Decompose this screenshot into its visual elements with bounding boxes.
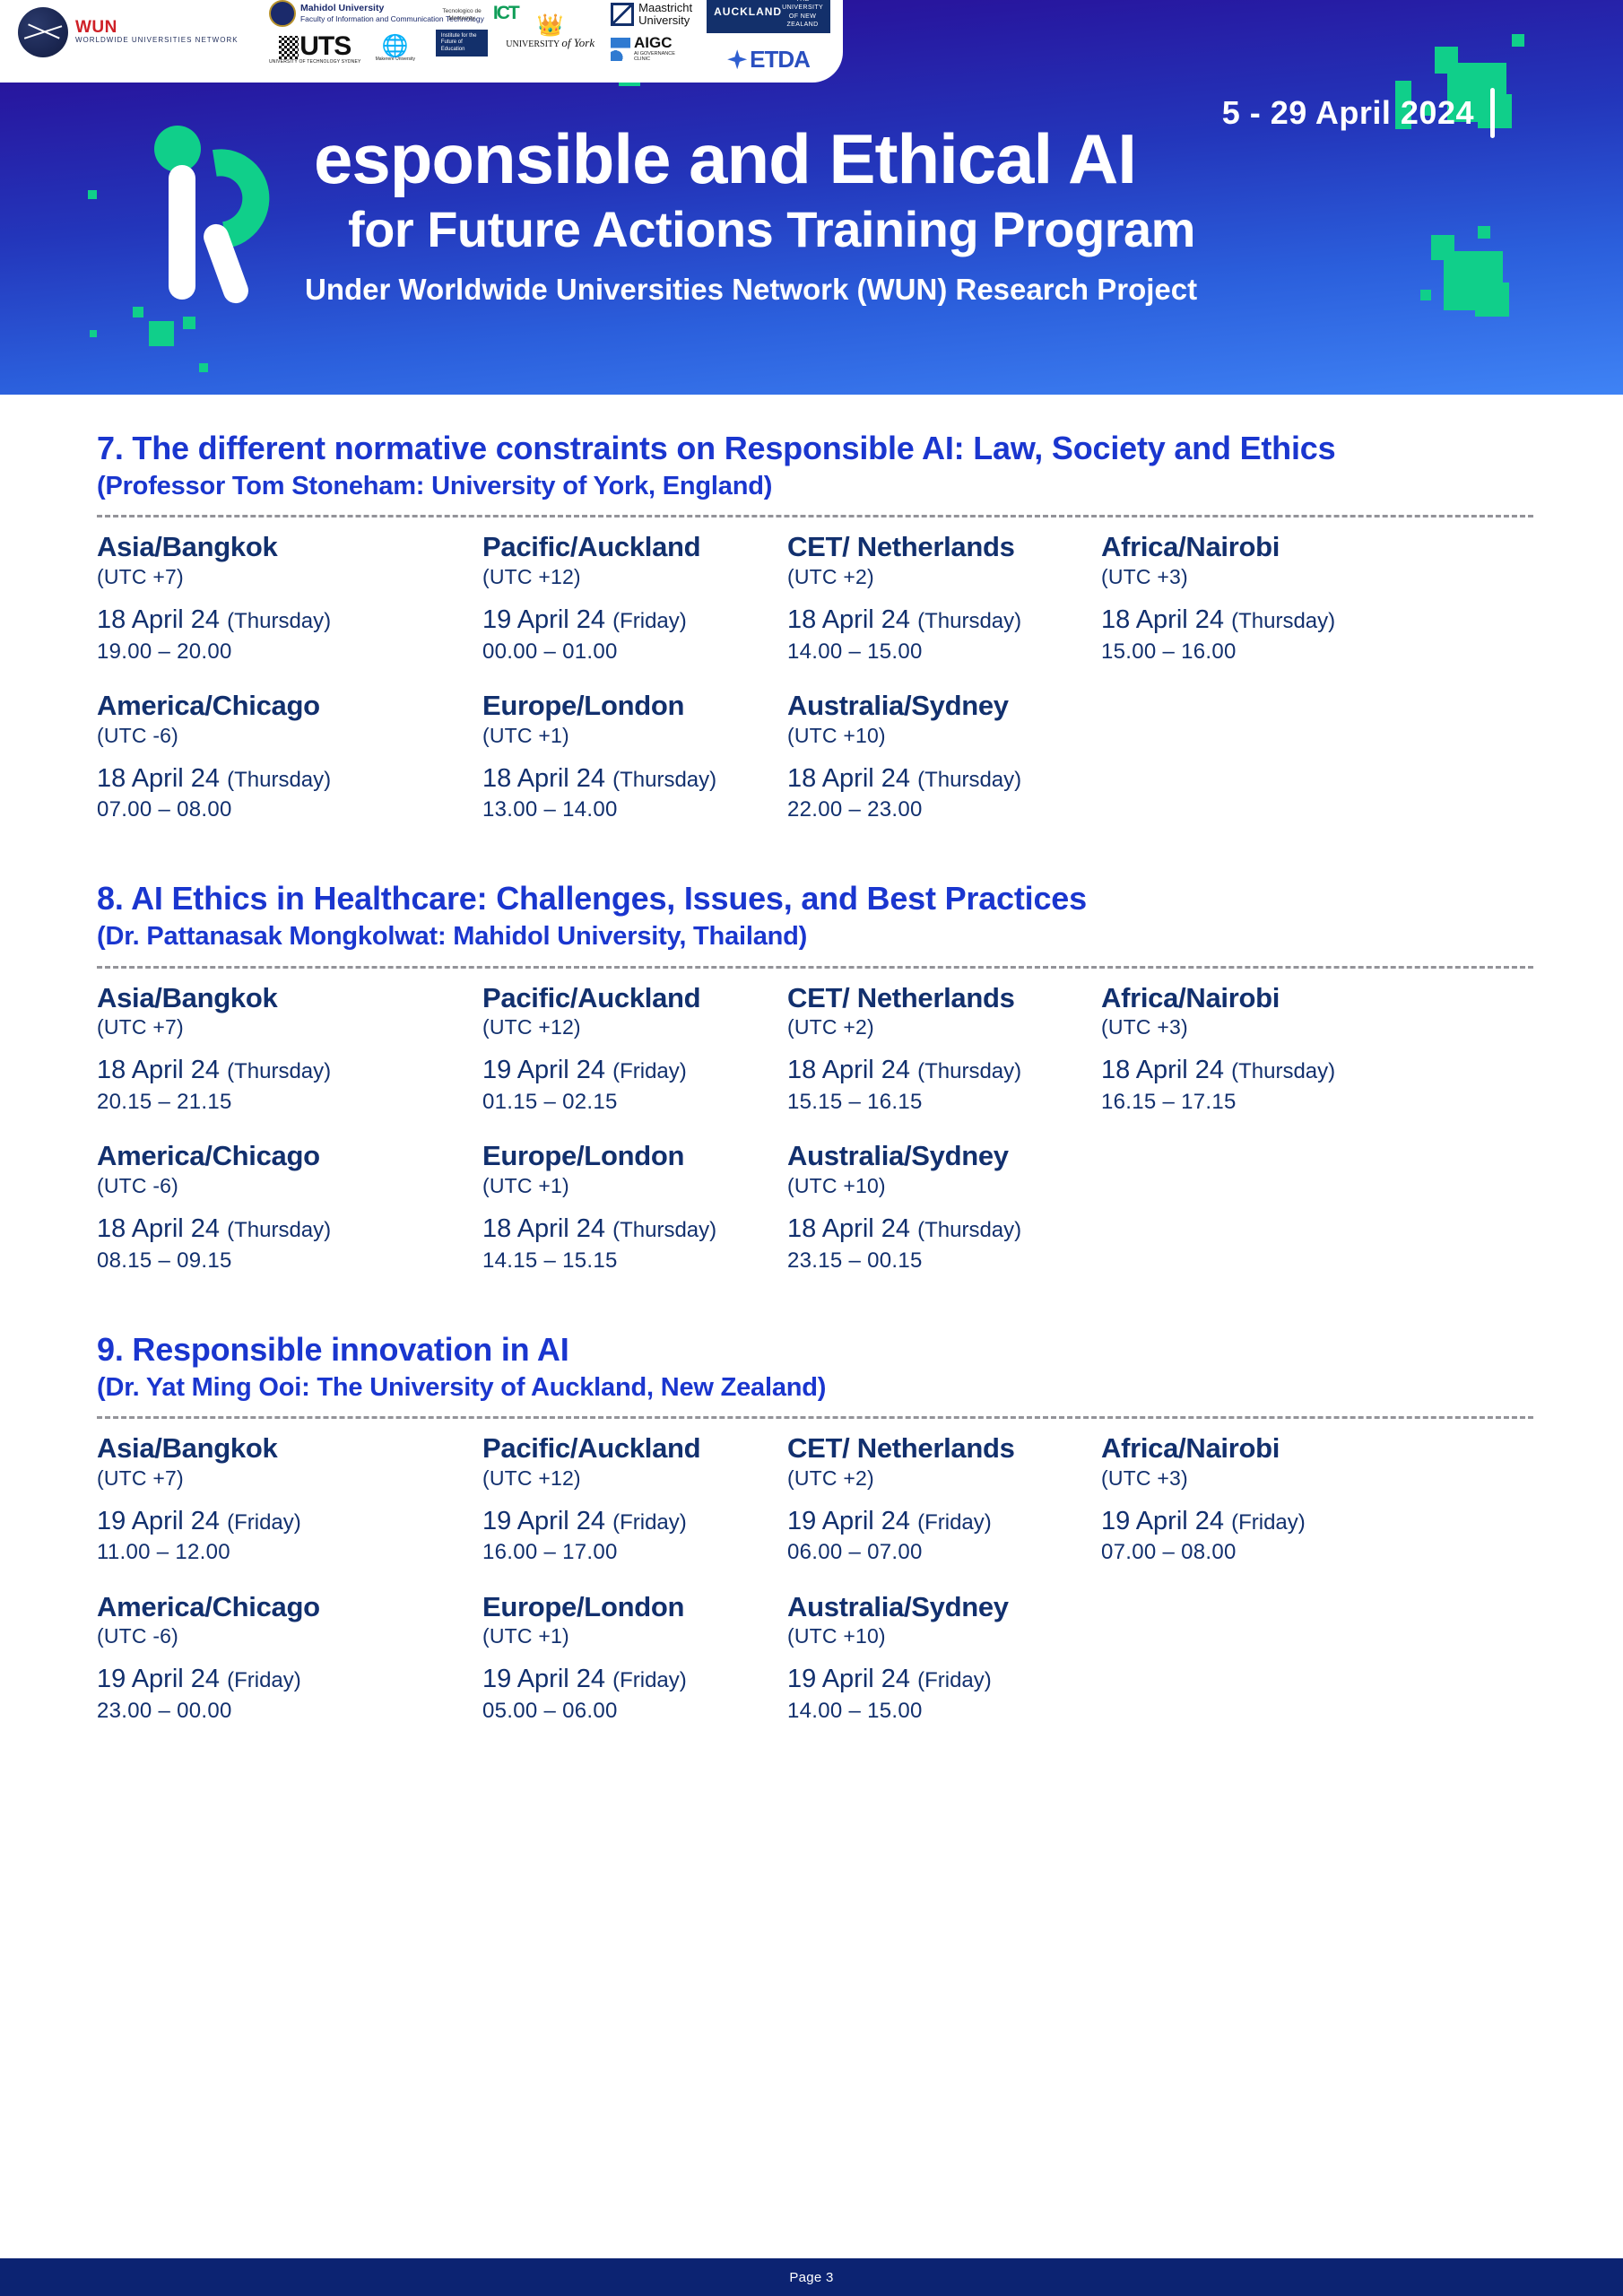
timezone-name: CET/ Netherlands xyxy=(787,983,1101,1014)
timezone-name: Europe/London xyxy=(482,691,787,722)
etda-star-icon xyxy=(727,49,747,69)
timezone-date: 19 April 24 xyxy=(787,1665,917,1693)
timezone-weekday: (Thursday) xyxy=(917,768,1021,792)
timezone-weekday: (Friday) xyxy=(612,609,687,633)
timezone-utc-offset: (UTC +12) xyxy=(482,1465,787,1492)
timezone-date: 18 April 24 xyxy=(97,764,227,793)
decorative-square xyxy=(88,190,97,199)
timezone-weekday: (Thursday) xyxy=(612,1218,716,1242)
timezone-name: Europe/London xyxy=(482,1592,787,1623)
session-presenter: (Professor Tom Stoneham: University of Y… xyxy=(97,470,1533,502)
timezone-cell: America/Chicago (UTC -6) 19 April 24 (Fr… xyxy=(97,1592,482,1731)
timezone-name: Australia/Sydney xyxy=(787,1141,1101,1172)
timezone-weekday: (Thursday) xyxy=(1231,1059,1335,1083)
session-title: 8. AI Ethics in Healthcare: Challenges, … xyxy=(97,879,1533,918)
timezone-name: Pacific/Auckland xyxy=(482,983,787,1014)
york-crest-icon: 👑 xyxy=(537,14,564,37)
timezone-grid-row2: America/Chicago (UTC -6) 19 April 24 (Fr… xyxy=(97,1592,1533,1731)
auckland-logo-secondary: THE UNIVERSITY OF NEW ZEALAND xyxy=(782,0,823,29)
timezone-cell: CET/ Netherlands (UTC +2) 18 April 24 (T… xyxy=(787,983,1101,1122)
university-of-auckland-logo: AUCKLAND THE UNIVERSITY OF NEW ZEALAND xyxy=(707,0,830,33)
session-presenter: (Dr. Yat Ming Ooi: The University of Auc… xyxy=(97,1371,1533,1404)
timezone-cell: Asia/Bangkok (UTC +7) 18 April 24 (Thurs… xyxy=(97,532,482,671)
decorative-square xyxy=(1475,283,1509,317)
page-footer: Page 3 xyxy=(0,2258,1623,2296)
timezone-utc-offset: (UTC +3) xyxy=(1101,1013,1487,1041)
timezone-name: Africa/Nairobi xyxy=(1101,532,1487,563)
timezone-grid-row1: Asia/Bangkok (UTC +7) 19 April 24 (Frida… xyxy=(97,1433,1533,1572)
timezone-cell: America/Chicago (UTC -6) 18 April 24 (Th… xyxy=(97,691,482,830)
program-date-range: 5 - 29 April 2024 xyxy=(1222,88,1495,138)
timezone-utc-offset: (UTC +7) xyxy=(97,563,482,591)
timezone-time: 01.15 – 02.15 xyxy=(482,1088,787,1116)
timezone-date: 18 April 24 xyxy=(787,1056,917,1084)
timezone-cell: Pacific/Auckland (UTC +12) 19 April 24 (… xyxy=(482,1433,787,1572)
timezone-utc-offset: (UTC +12) xyxy=(482,563,787,591)
header-subtitle: Under Worldwide Universities Network (WU… xyxy=(305,274,1197,304)
timezone-weekday: (Friday) xyxy=(917,1668,992,1692)
aigc-logo-secondary: AI GOVERNANCE CLINIC xyxy=(634,52,692,63)
timezone-weekday: (Friday) xyxy=(612,1668,687,1692)
timezone-name: Pacific/Auckland xyxy=(482,1433,787,1465)
timezone-time: 07.00 – 08.00 xyxy=(97,796,482,823)
aigc-logo: AIGC AI GOVERNANCE CLINIC xyxy=(611,35,692,62)
section-divider xyxy=(97,515,1533,517)
york-logo-secondary: of York xyxy=(561,36,595,49)
timezone-date: 18 April 24 xyxy=(97,1214,227,1243)
maastricht-university-logo: Maastricht University xyxy=(611,2,692,26)
timezone-utc-offset: (UTC -6) xyxy=(97,722,482,750)
timezone-time: 15.15 – 16.15 xyxy=(787,1088,1101,1116)
timezone-utc-offset: (UTC +10) xyxy=(787,1622,1101,1650)
decorative-square xyxy=(1478,226,1490,239)
timezone-utc-offset: (UTC +2) xyxy=(787,1465,1101,1492)
mahidol-seal-icon xyxy=(269,0,296,27)
timezone-time: 07.00 – 08.00 xyxy=(1101,1538,1487,1566)
timezone-time: 14.15 – 15.15 xyxy=(482,1247,787,1274)
timezone-time: 23.00 – 00.00 xyxy=(97,1697,482,1725)
timezone-cell-empty xyxy=(1101,691,1487,830)
timezone-time: 06.00 – 07.00 xyxy=(787,1538,1101,1566)
timezone-utc-offset: (UTC +1) xyxy=(482,1172,787,1200)
timezone-time: 08.15 – 09.15 xyxy=(97,1247,482,1274)
timezone-date: 19 April 24 xyxy=(482,605,612,634)
timezone-date: 19 April 24 xyxy=(482,1056,612,1084)
timezone-name: Asia/Bangkok xyxy=(97,983,482,1014)
timezone-utc-offset: (UTC +7) xyxy=(97,1013,482,1041)
timezone-name: Pacific/Auckland xyxy=(482,532,787,563)
timezone-cell: America/Chicago (UTC -6) 18 April 24 (Th… xyxy=(97,1141,482,1280)
etda-logo: ETDA xyxy=(707,46,830,74)
timezone-utc-offset: (UTC +10) xyxy=(787,722,1101,750)
timezone-weekday: (Friday) xyxy=(227,1668,301,1692)
decorative-square xyxy=(199,363,208,372)
timezone-date: 19 April 24 xyxy=(787,1507,917,1535)
timezone-date: 19 April 24 xyxy=(97,1665,227,1693)
timezone-time: 16.00 – 17.00 xyxy=(482,1538,787,1566)
header-title-line2: for Future Actions Training Program xyxy=(348,204,1195,255)
auckland-logo-primary: AUCKLAND xyxy=(714,5,782,20)
page-number-label: Page 3 xyxy=(789,2270,833,2285)
date-range-text: 5 - 29 April 2024 xyxy=(1222,94,1474,132)
timezone-date: 18 April 24 xyxy=(787,605,917,634)
etda-logo-primary: ETDA xyxy=(750,46,810,74)
timezone-time: 15.00 – 16.00 xyxy=(1101,638,1487,665)
timezone-time: 14.00 – 15.00 xyxy=(787,1697,1101,1725)
wun-logo-secondary: WORLDWIDE UNIVERSITIES NETWORK xyxy=(75,36,239,46)
timezone-cell: Asia/Bangkok (UTC +7) 18 April 24 (Thurs… xyxy=(97,983,482,1122)
timezone-weekday: (Friday) xyxy=(917,1510,992,1535)
timezone-date: 18 April 24 xyxy=(97,605,227,634)
makerere-logo-secondary: Makerere University xyxy=(376,57,415,62)
timezone-date: 18 April 24 xyxy=(97,1056,227,1084)
timezone-cell: Africa/Nairobi (UTC +3) 18 April 24 (Thu… xyxy=(1101,532,1487,671)
session-presenter: (Dr. Pattanasak Mongkolwat: Mahidol Univ… xyxy=(97,920,1533,952)
decorative-square xyxy=(149,321,174,346)
timezone-time: 16.15 – 17.15 xyxy=(1101,1088,1487,1116)
timezone-time: 14.00 – 15.00 xyxy=(787,638,1101,665)
timezone-cell: Australia/Sydney (UTC +10) 18 April 24 (… xyxy=(787,1141,1101,1280)
timezone-cell: Pacific/Auckland (UTC +12) 19 April 24 (… xyxy=(482,983,787,1122)
timezone-utc-offset: (UTC +3) xyxy=(1101,1465,1487,1492)
uts-logo-primary: UTS xyxy=(299,31,351,61)
timezone-weekday: (Friday) xyxy=(1231,1510,1306,1535)
timezone-name: CET/ Netherlands xyxy=(787,1433,1101,1465)
timezone-name: Australia/Sydney xyxy=(787,691,1101,722)
timezone-name: America/Chicago xyxy=(97,691,482,722)
makerere-university-logo: 🌐 Makerere University xyxy=(376,35,415,62)
timezone-date: 18 April 24 xyxy=(787,1214,917,1243)
timezone-weekday: (Friday) xyxy=(227,1510,301,1535)
timezone-time: 13.00 – 14.00 xyxy=(482,796,787,823)
instituto-para-el-futuro-de-la-educacion-logo: Institute for the Future of Education xyxy=(436,30,489,57)
wun-logo-primary: WUN xyxy=(75,19,239,36)
timezone-name: Africa/Nairobi xyxy=(1101,983,1487,1014)
partner-logos-card: WUN WORLDWIDE UNIVERSITIES NETWORK Mahid… xyxy=(0,0,843,83)
timezone-date: 19 April 24 xyxy=(482,1507,612,1535)
uts-logo: UTS UNIVERSITY OF TECHNOLOGY SYDNEY xyxy=(269,32,361,65)
page-header-banner: WUN WORLDWIDE UNIVERSITIES NETWORK Mahid… xyxy=(0,0,1623,395)
timezone-cell-empty xyxy=(1101,1141,1487,1280)
date-divider-bar xyxy=(1490,88,1495,138)
timezone-cell: Pacific/Auckland (UTC +12) 19 April 24 (… xyxy=(482,532,787,671)
timezone-weekday: (Friday) xyxy=(612,1059,687,1083)
timezone-weekday: (Thursday) xyxy=(227,1059,331,1083)
timezone-cell: Asia/Bangkok (UTC +7) 19 April 24 (Frida… xyxy=(97,1433,482,1572)
timezone-utc-offset: (UTC +2) xyxy=(787,563,1101,591)
timezone-cell: Australia/Sydney (UTC +10) 18 April 24 (… xyxy=(787,691,1101,830)
york-logo-primary: UNIVERSITY xyxy=(506,39,560,49)
timezone-date: 18 April 24 xyxy=(482,764,612,793)
timezone-grid-row2: America/Chicago (UTC -6) 18 April 24 (Th… xyxy=(97,691,1533,830)
timezone-name: Asia/Bangkok xyxy=(97,532,482,563)
program-schedule-page: WUN WORLDWIDE UNIVERSITIES NETWORK Mahid… xyxy=(0,0,1623,2296)
session-title: 9. Responsible innovation in AI xyxy=(97,1330,1533,1370)
timezone-utc-offset: (UTC -6) xyxy=(97,1172,482,1200)
timezone-time: 11.00 – 12.00 xyxy=(97,1538,482,1566)
timezone-time: 05.00 – 06.00 xyxy=(482,1697,787,1725)
maastricht-logo-secondary: University xyxy=(638,14,692,27)
session-section-9: 9. Responsible innovation in AI (Dr. Yat… xyxy=(97,1330,1533,1730)
wun-mark-icon xyxy=(18,7,68,57)
timezone-cell: CET/ Netherlands (UTC +2) 19 April 24 (F… xyxy=(787,1433,1101,1572)
timezone-date: 19 April 24 xyxy=(97,1507,227,1535)
timezone-date: 18 April 24 xyxy=(1101,605,1231,634)
uts-grid-icon xyxy=(279,36,299,59)
timezone-utc-offset: (UTC -6) xyxy=(97,1622,482,1650)
timezone-weekday: (Thursday) xyxy=(1231,609,1335,633)
timezone-cell: Australia/Sydney (UTC +10) 19 April 24 (… xyxy=(787,1592,1101,1731)
timezone-name: Africa/Nairobi xyxy=(1101,1433,1487,1465)
decorative-square xyxy=(1420,290,1431,300)
timezone-weekday: (Thursday) xyxy=(917,1218,1021,1242)
aigc-mark-icon xyxy=(611,38,630,61)
decorative-square xyxy=(90,330,97,337)
timezone-time: 19.00 – 20.00 xyxy=(97,638,482,665)
makerere-crest-icon: 🌐 xyxy=(382,35,409,57)
timezone-utc-offset: (UTC +2) xyxy=(787,1013,1101,1041)
timezone-weekday: (Friday) xyxy=(612,1510,687,1535)
session-section-7: 7. The different normative constraints o… xyxy=(97,429,1533,829)
header-title-line1: esponsible and Ethical AI xyxy=(314,124,1136,194)
timezone-name: America/Chicago xyxy=(97,1592,482,1623)
decorative-square xyxy=(183,317,195,329)
timezone-grid-row2: America/Chicago (UTC -6) 18 April 24 (Th… xyxy=(97,1141,1533,1280)
timezone-date: 19 April 24 xyxy=(1101,1507,1231,1535)
sessions-content: 7. The different normative constraints o… xyxy=(0,395,1623,1730)
timezone-weekday: (Thursday) xyxy=(227,1218,331,1242)
timezone-name: Australia/Sydney xyxy=(787,1592,1101,1623)
section-divider xyxy=(97,1416,1533,1419)
timezone-time: 20.15 – 21.15 xyxy=(97,1088,482,1116)
timezone-grid-row1: Asia/Bangkok (UTC +7) 18 April 24 (Thurs… xyxy=(97,532,1533,671)
timezone-date: 18 April 24 xyxy=(787,764,917,793)
timezone-utc-offset: (UTC +1) xyxy=(482,1622,787,1650)
timezone-date: 18 April 24 xyxy=(1101,1056,1231,1084)
wun-logo: WUN WORLDWIDE UNIVERSITIES NETWORK xyxy=(18,7,239,57)
timezone-name: Asia/Bangkok xyxy=(97,1433,482,1465)
timezone-weekday: (Thursday) xyxy=(227,768,331,792)
timezone-name: CET/ Netherlands xyxy=(787,532,1101,563)
timezone-name: America/Chicago xyxy=(97,1141,482,1172)
maastricht-logo-primary: Maastricht xyxy=(638,2,692,14)
timezone-utc-offset: (UTC +7) xyxy=(97,1465,482,1492)
timezone-cell-empty xyxy=(1101,1592,1487,1731)
timezone-utc-offset: (UTC +10) xyxy=(787,1172,1101,1200)
timezone-utc-offset: (UTC +12) xyxy=(482,1013,787,1041)
timezone-cell: Europe/London (UTC +1) 18 April 24 (Thur… xyxy=(482,1141,787,1280)
aigc-logo-primary: AIGC xyxy=(634,34,673,51)
timezone-weekday: (Thursday) xyxy=(612,768,716,792)
timezone-weekday: (Thursday) xyxy=(917,609,1021,633)
timezone-grid-row1: Asia/Bangkok (UTC +7) 18 April 24 (Thurs… xyxy=(97,983,1533,1122)
timezone-time: 00.00 – 01.00 xyxy=(482,638,787,665)
uts-logo-secondary: UNIVERSITY OF TECHNOLOGY SYDNEY xyxy=(269,60,361,65)
timezone-cell: Europe/London (UTC +1) 19 April 24 (Frid… xyxy=(482,1592,787,1731)
timezone-utc-offset: (UTC +3) xyxy=(1101,563,1487,591)
responsible-r-logo-icon xyxy=(143,126,269,305)
timezone-date: 19 April 24 xyxy=(482,1665,612,1693)
timezone-utc-offset: (UTC +1) xyxy=(482,722,787,750)
timezone-date: 18 April 24 xyxy=(482,1214,612,1243)
maastricht-mark-icon xyxy=(611,3,634,26)
decorative-square xyxy=(133,307,143,317)
timezone-time: 22.00 – 23.00 xyxy=(787,796,1101,823)
university-of-york-logo: 👑 UNIVERSITY of York xyxy=(506,14,595,50)
timezone-cell: Africa/Nairobi (UTC +3) 19 April 24 (Fri… xyxy=(1101,1433,1487,1572)
timezone-name: Europe/London xyxy=(482,1141,787,1172)
decorative-square xyxy=(1512,34,1524,47)
timezone-cell: Europe/London (UTC +1) 18 April 24 (Thur… xyxy=(482,691,787,830)
tec-de-monterrey-logo: Tecnologico de Monterrey xyxy=(436,8,489,22)
session-title: 7. The different normative constraints o… xyxy=(97,429,1533,468)
timezone-time: 23.15 – 00.15 xyxy=(787,1247,1101,1274)
section-divider xyxy=(97,966,1533,969)
timezone-weekday: (Thursday) xyxy=(917,1059,1021,1083)
timezone-cell: CET/ Netherlands (UTC +2) 18 April 24 (T… xyxy=(787,532,1101,671)
timezone-weekday: (Thursday) xyxy=(227,609,331,633)
timezone-cell: Africa/Nairobi (UTC +3) 18 April 24 (Thu… xyxy=(1101,983,1487,1122)
session-section-8: 8. AI Ethics in Healthcare: Challenges, … xyxy=(97,879,1533,1279)
